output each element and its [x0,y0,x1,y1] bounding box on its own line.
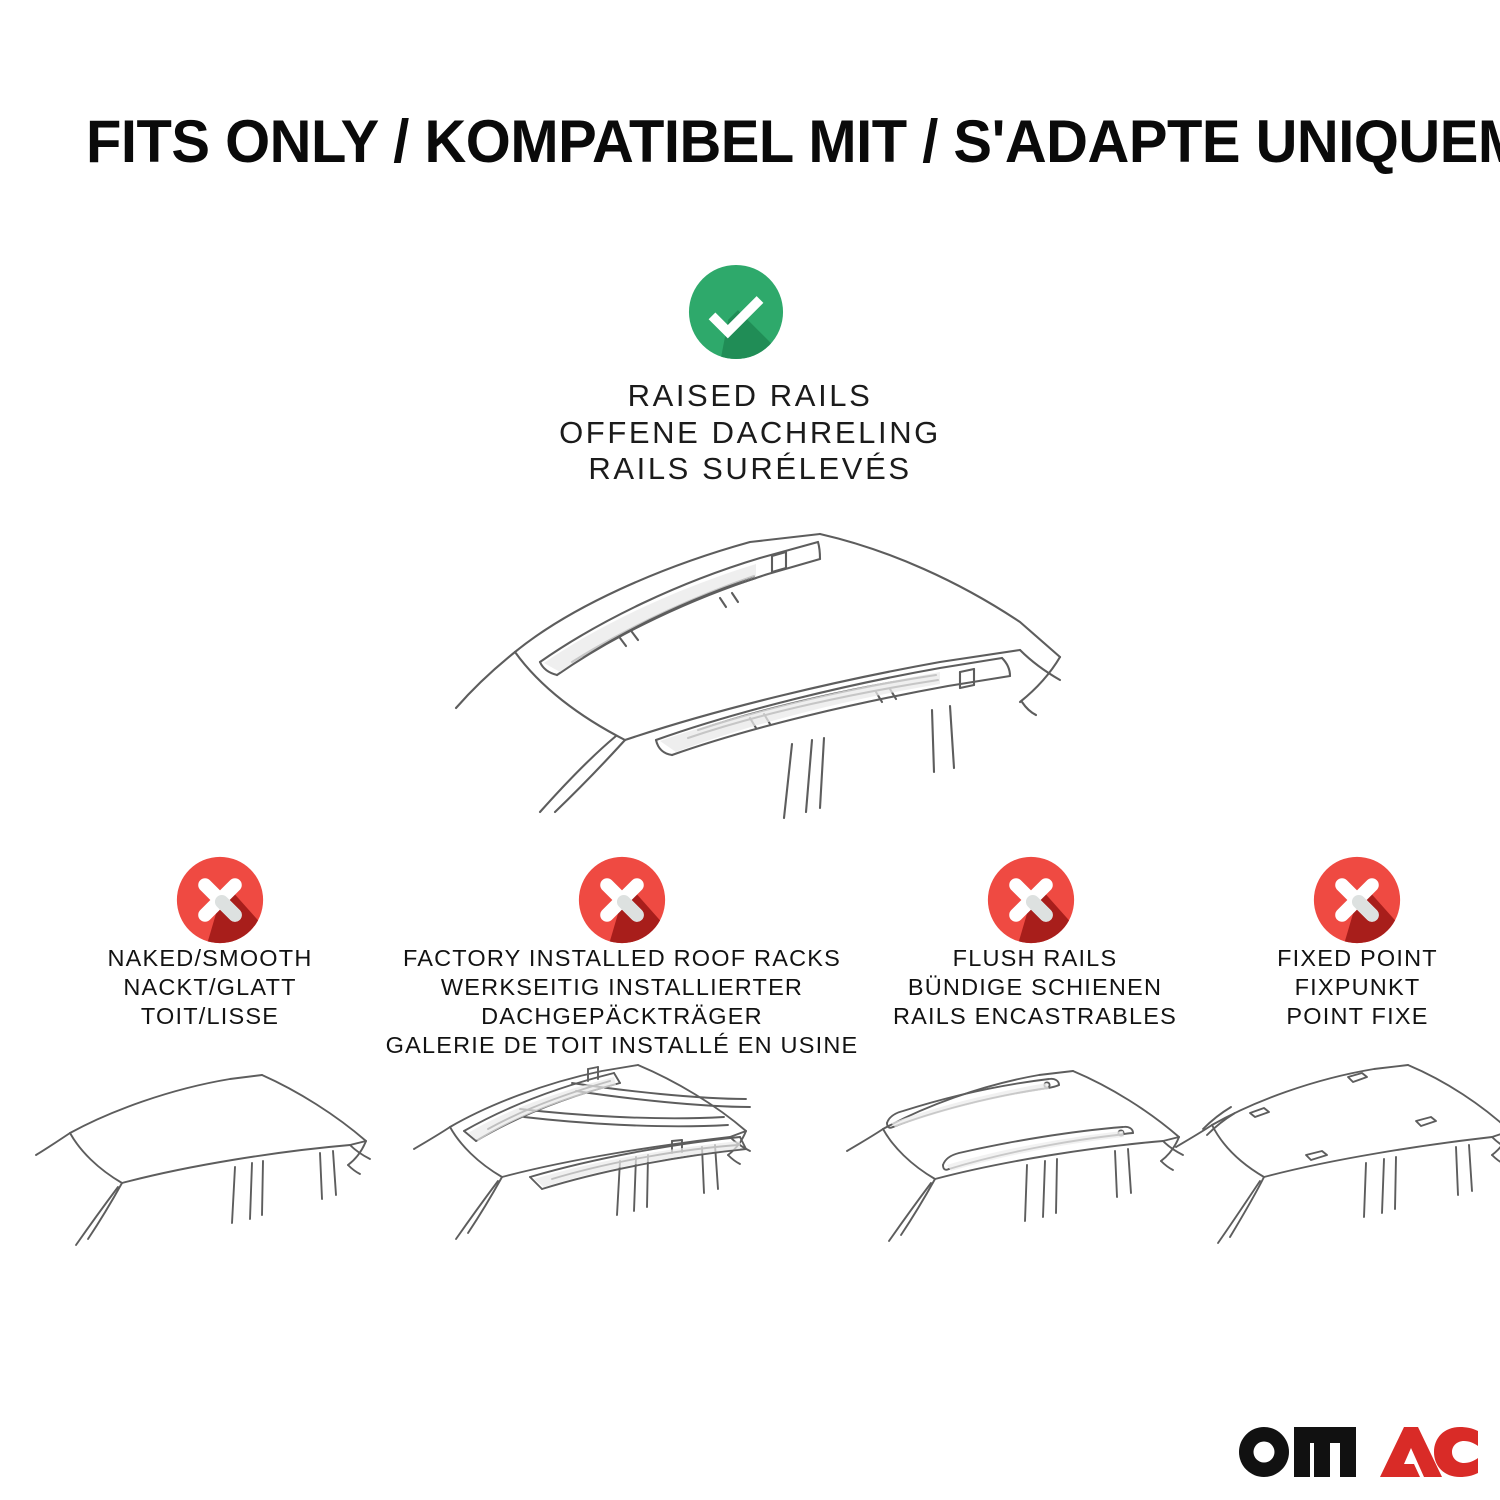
label-line: BÜNDIGE SCHIENEN [850,973,1220,1002]
check-circle-icon [688,264,784,360]
page-title: FITS ONLY / KOMPATIBEL MIT / S'ADAPTE UN… [86,112,1379,172]
label-line: DACHGEPÄCKTRÄGER [382,1002,862,1031]
car-roof-fixed-point-illustration [1170,1055,1500,1285]
label-line: FIXED POINT [1215,944,1500,973]
label-line: FACTORY INSTALLED ROOF RACKS [382,944,862,973]
x-circle-icon [176,856,264,944]
rejected-labels-fixed-point: FIXED POINT FIXPUNKT POINT FIXE [1215,944,1500,1031]
approved-labels: RAISED RAILS OFFENE DACHRELING RAILS SUR… [450,378,1050,488]
label-line: FLUSH RAILS [850,944,1220,973]
x-circle-icon [578,856,666,944]
label-line: FIXPUNKT [1215,973,1500,1002]
logo-letter-m [1294,1427,1356,1477]
label-line: POINT FIXE [1215,1002,1500,1031]
logo-letter-a [1380,1427,1442,1477]
car-roof-factory-roof-racks-illustration [402,1055,802,1285]
label-line: TOIT/LISSE [20,1002,400,1031]
rejected-labels-naked-smooth: NAKED/SMOOTH NACKT/GLATT TOIT/LISSE [20,944,400,1031]
label-line: NACKT/GLATT [20,973,400,1002]
rejected-labels-factory-roof-racks: FACTORY INSTALLED ROOF RACKS WERKSEITIG … [382,944,862,1060]
omac-logo [1228,1408,1478,1480]
x-circle-icon [987,856,1075,944]
rejected-labels-flush-rails: FLUSH RAILS BÜNDIGE SCHIENEN RAILS ENCAS… [850,944,1220,1031]
logo-letter-o [1239,1427,1289,1477]
label-line: NAKED/SMOOTH [20,944,400,973]
car-roof-raised-rails-illustration [420,512,1110,822]
x-circle-icon [1313,856,1401,944]
approved-label-en: RAISED RAILS [450,378,1050,415]
approved-label-fr: RAILS SURÉLEVÉS [450,451,1050,488]
label-line: WERKSEITIG INSTALLIERTER [382,973,862,1002]
infographic-page: FITS ONLY / KOMPATIBEL MIT / S'ADAPTE UN… [0,0,1500,1500]
logo-letter-c [1434,1427,1478,1477]
label-line: RAILS ENCASTRABLES [850,1002,1220,1031]
car-roof-naked-smooth-illustration [30,1055,400,1285]
approved-label-de: OFFENE DACHRELING [450,415,1050,452]
